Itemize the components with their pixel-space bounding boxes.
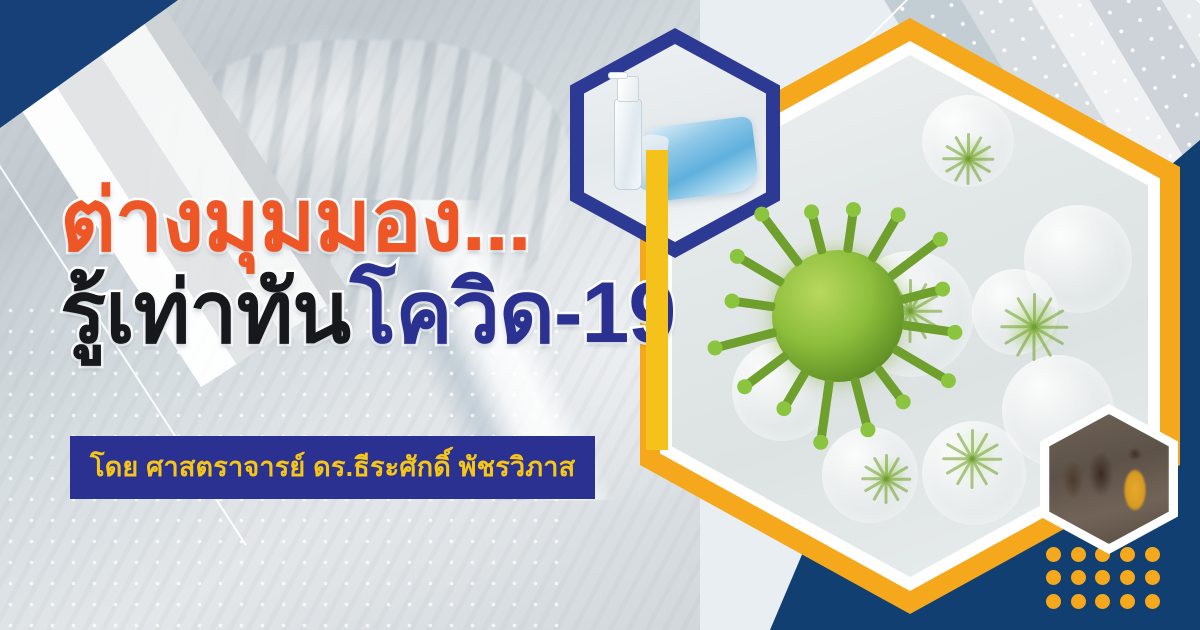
title-line-2-part-1: รู้เท่าทัน [60,265,350,361]
yellow-dot-grid [1041,543,1165,613]
author-byline: โดย ศาสตราจารย์ ดร.ธีระศักดิ์ พัชรวิภาส [70,436,595,499]
yellow-dot [1145,570,1160,585]
sanitizer-spray-nozzle [608,72,628,79]
sanitizer-bottle-cap [617,76,639,102]
yellow-dot [1145,594,1160,609]
yellow-dot [1046,570,1061,585]
yellow-dot [1095,594,1110,609]
yellow-dot [1046,594,1061,609]
title-line-2-part-2: โควิด-19 [350,265,675,361]
virus-spike [971,459,974,489]
petri-bubble [972,269,1058,355]
yellow-dot [1145,547,1160,562]
petri-bubble [822,427,918,523]
yellow-dot [1120,594,1135,609]
yellow-dot [1071,547,1086,562]
virus-spike [1033,327,1036,361]
yellow-dot [1095,570,1110,585]
yellow-dot [1120,570,1135,585]
yellow-dot [1071,570,1086,585]
sanitizer-bottle-body [614,98,642,190]
yellow-dot [1120,547,1135,562]
banner-canvas: ต่างมุมมอง... รู้เท่าทันโควิด-19 โดย ศาส… [0,0,1200,630]
yellow-dot [1046,547,1061,562]
yellow-dot [1071,594,1086,609]
petri-bubble [922,421,1026,525]
virus-spike [1000,326,1034,329]
yellow-accent-strip [646,150,668,450]
central-virus-core [772,250,904,382]
